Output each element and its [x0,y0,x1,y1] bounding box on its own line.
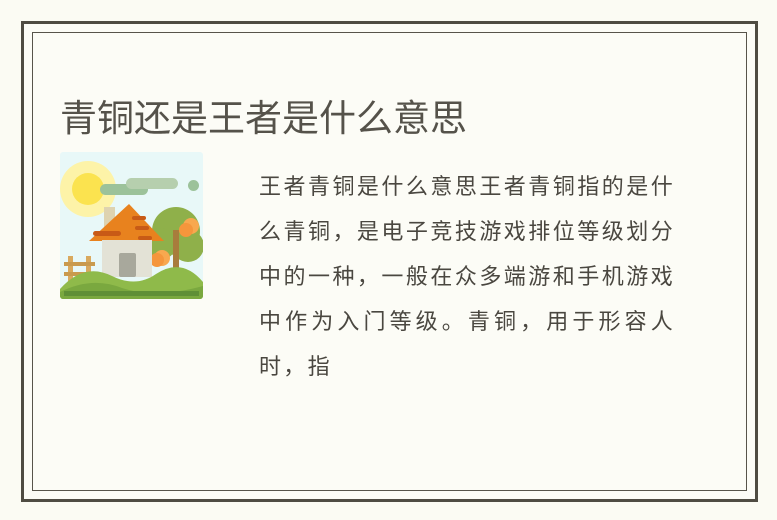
house-on-hill-illustration [60,152,203,299]
page-title: 青铜还是王者是什么意思 [60,97,467,141]
page-root: 青铜还是王者是什么意思 [0,0,777,520]
outer-frame: 青铜还是王者是什么意思 [21,21,758,502]
article-thumbnail[interactable] [60,152,203,299]
inner-frame: 青铜还是王者是什么意思 [32,32,747,491]
article-body: 王者青铜是什么意思王者青铜指的是什么青铜，是电子竞技游戏排位等级划分中的一种，一… [259,164,675,389]
